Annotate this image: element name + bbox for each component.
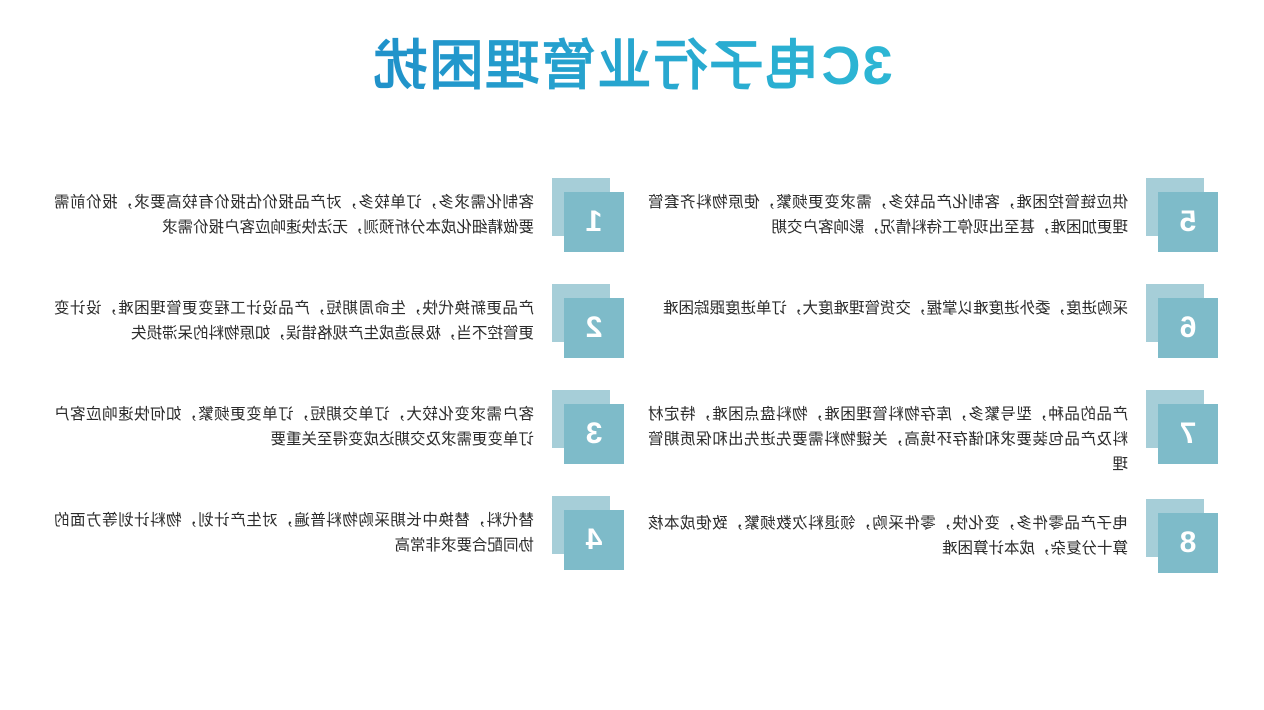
pain-point-text: 客制化需求多，订单较多，对产品报价估报价有较高要求，报价前需要做精细化成本分析预…	[54, 178, 534, 240]
badge-number: 3	[564, 404, 624, 464]
pain-point-item: 5 供应链管控困难，客制化产品较多，需求变更频繁，使原物料齐套管理更加困难，甚至…	[648, 178, 1218, 262]
badge-number: 6	[1158, 298, 1218, 358]
pain-point-item: 4 替代料，替换中长期采购物料普遍，对生产计划，物料计划等方面的协同配合要求非常…	[54, 496, 624, 580]
item-number-badge: 5	[1142, 178, 1218, 254]
badge-number: 2	[564, 298, 624, 358]
badge-number: 4	[564, 510, 624, 570]
pain-point-column-right: 1 客制化需求多，订单较多，对产品报价估报价有较高要求，报价前需要做精细化成本分…	[54, 178, 624, 602]
pain-point-text: 供应链管控困难，客制化产品较多，需求变更频繁，使原物料齐套管理更加困难，甚至出现…	[648, 178, 1128, 240]
pain-point-item: 7 产品的品种，型号繁多，库存物料管理困难，物料盘点困难，特定材料及产品包装要求…	[648, 390, 1218, 477]
item-number-badge: 7	[1142, 390, 1218, 466]
pain-point-text: 产品的品种，型号繁多，库存物料管理困难，物料盘点困难，特定材料及产品包装要求和储…	[648, 390, 1128, 477]
item-number-badge: 4	[548, 496, 624, 572]
item-number-badge: 8	[1142, 499, 1218, 575]
pain-point-item: 3 客户需求变化较大，订单交期短，订单变更频繁，如何快速响应客户订单变更需求及交…	[54, 390, 624, 474]
item-number-badge: 1	[548, 178, 624, 254]
badge-number: 8	[1158, 513, 1218, 573]
pain-point-text: 采购进度，委外进度难以掌握，交货管理难度大，订单进度跟踪困难	[648, 284, 1128, 321]
pain-point-item: 6 采购进度，委外进度难以掌握，交货管理难度大，订单进度跟踪困难	[648, 284, 1218, 368]
pain-point-text: 电子产品零件多，变化快，零件采购，领退料次数频繁，致使成本核算十分复杂，成本计算…	[648, 499, 1128, 561]
item-number-badge: 2	[548, 284, 624, 360]
slide-canvas: 3C电子行业管理困扰 5 供应链管控困难，客制化产品较多，需求变更频繁，使原物料…	[0, 0, 1264, 710]
pain-point-item: 8 电子产品零件多，变化快，零件采购，领退料次数频繁，致使成本核算十分复杂，成本…	[648, 499, 1218, 583]
pain-point-text: 替代料，替换中长期采购物料普遍，对生产计划，物料计划等方面的协同配合要求非常高	[54, 496, 534, 558]
pain-point-text: 客户需求变化较大，订单交期短，订单变更频繁，如何快速响应客户订单变更需求及交期达…	[54, 390, 534, 452]
pain-point-item: 1 客制化需求多，订单较多，对产品报价估报价有较高要求，报价前需要做精细化成本分…	[54, 178, 624, 262]
badge-number: 7	[1158, 404, 1218, 464]
pain-point-item: 2 产品更新换代快，生命周期短，产品设计工程变更管理困难，设计变更管控不当，极易…	[54, 284, 624, 368]
item-number-badge: 3	[548, 390, 624, 466]
pain-point-column-left: 5 供应链管控困难，客制化产品较多，需求变更频繁，使原物料齐套管理更加困难，甚至…	[648, 178, 1218, 605]
badge-number: 1	[564, 192, 624, 252]
badge-number: 5	[1158, 192, 1218, 252]
item-number-badge: 6	[1142, 284, 1218, 360]
page-title: 3C电子行业管理困扰	[0, 34, 1264, 99]
pain-point-text: 产品更新换代快，生命周期短，产品设计工程变更管理困难，设计变更管控不当，极易造成…	[54, 284, 534, 346]
